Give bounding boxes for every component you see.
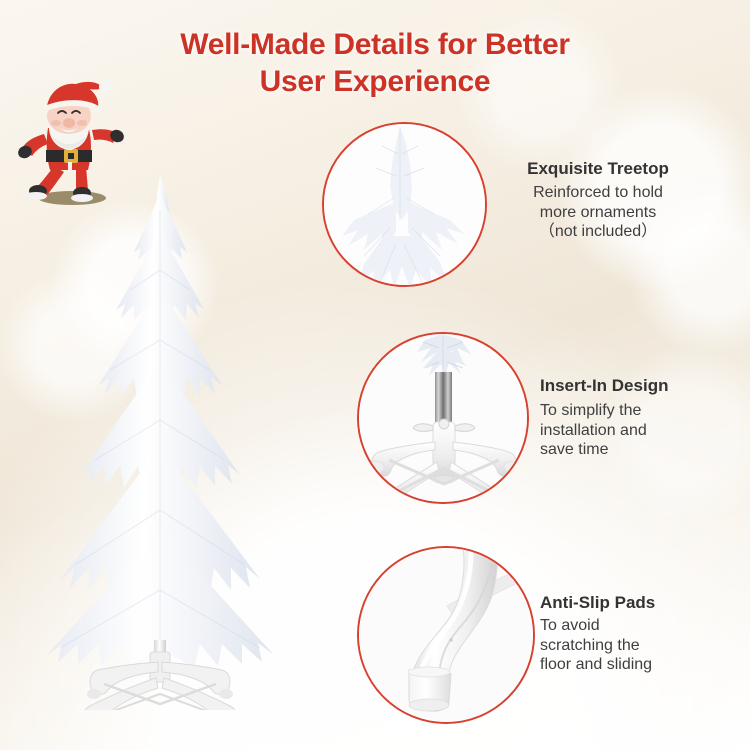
leg-pad-closeup-image xyxy=(359,548,535,724)
callout-text-anti-slip-pads: Anti-Slip Pads To avoid scratching the f… xyxy=(540,592,745,675)
promo-banner: Well-Made Details for Better User Experi… xyxy=(0,0,750,750)
callout-desc-line: To simplify the xyxy=(540,401,745,421)
callout-text-insert-in-design: Insert-In Design To simplify the install… xyxy=(540,375,745,460)
callout-desc-line: more ornaments xyxy=(492,203,704,223)
callout-desc-line: save time xyxy=(540,440,745,460)
callout-circle-insert-in-design xyxy=(357,332,529,504)
callout-title-exquisite-treetop: Exquisite Treetop xyxy=(492,158,704,180)
callout-desc-insert-in-design: To simplify the installation and save ti… xyxy=(540,401,745,460)
callout-desc-line: To avoid xyxy=(540,616,745,636)
callout-desc-anti-slip-pads: To avoid scratching the floor and slidin… xyxy=(540,616,745,675)
product-image-christmas-tree xyxy=(10,170,320,710)
callout-desc-line: Reinforced to hold xyxy=(492,183,704,203)
callout-title-anti-slip-pads: Anti-Slip Pads xyxy=(540,592,745,614)
callout-title-insert-in-design: Insert-In Design xyxy=(540,375,745,397)
pole-and-stand-closeup-image xyxy=(359,334,529,504)
callout-desc-line: （not included） xyxy=(492,222,704,242)
callout-desc-line: scratching the xyxy=(540,636,745,656)
treetop-closeup-image xyxy=(324,124,487,287)
page-title-line-1: Well-Made Details for Better xyxy=(180,28,569,61)
callout-circle-exquisite-treetop xyxy=(322,122,487,287)
callout-desc-line: installation and xyxy=(540,421,745,441)
callout-desc-line: floor and sliding xyxy=(540,655,745,675)
callout-desc-exquisite-treetop: Reinforced to hold more ornaments （not i… xyxy=(492,183,704,242)
callout-text-exquisite-treetop: Exquisite Treetop Reinforced to hold mor… xyxy=(492,158,704,242)
callout-circle-anti-slip-pads xyxy=(357,546,535,724)
